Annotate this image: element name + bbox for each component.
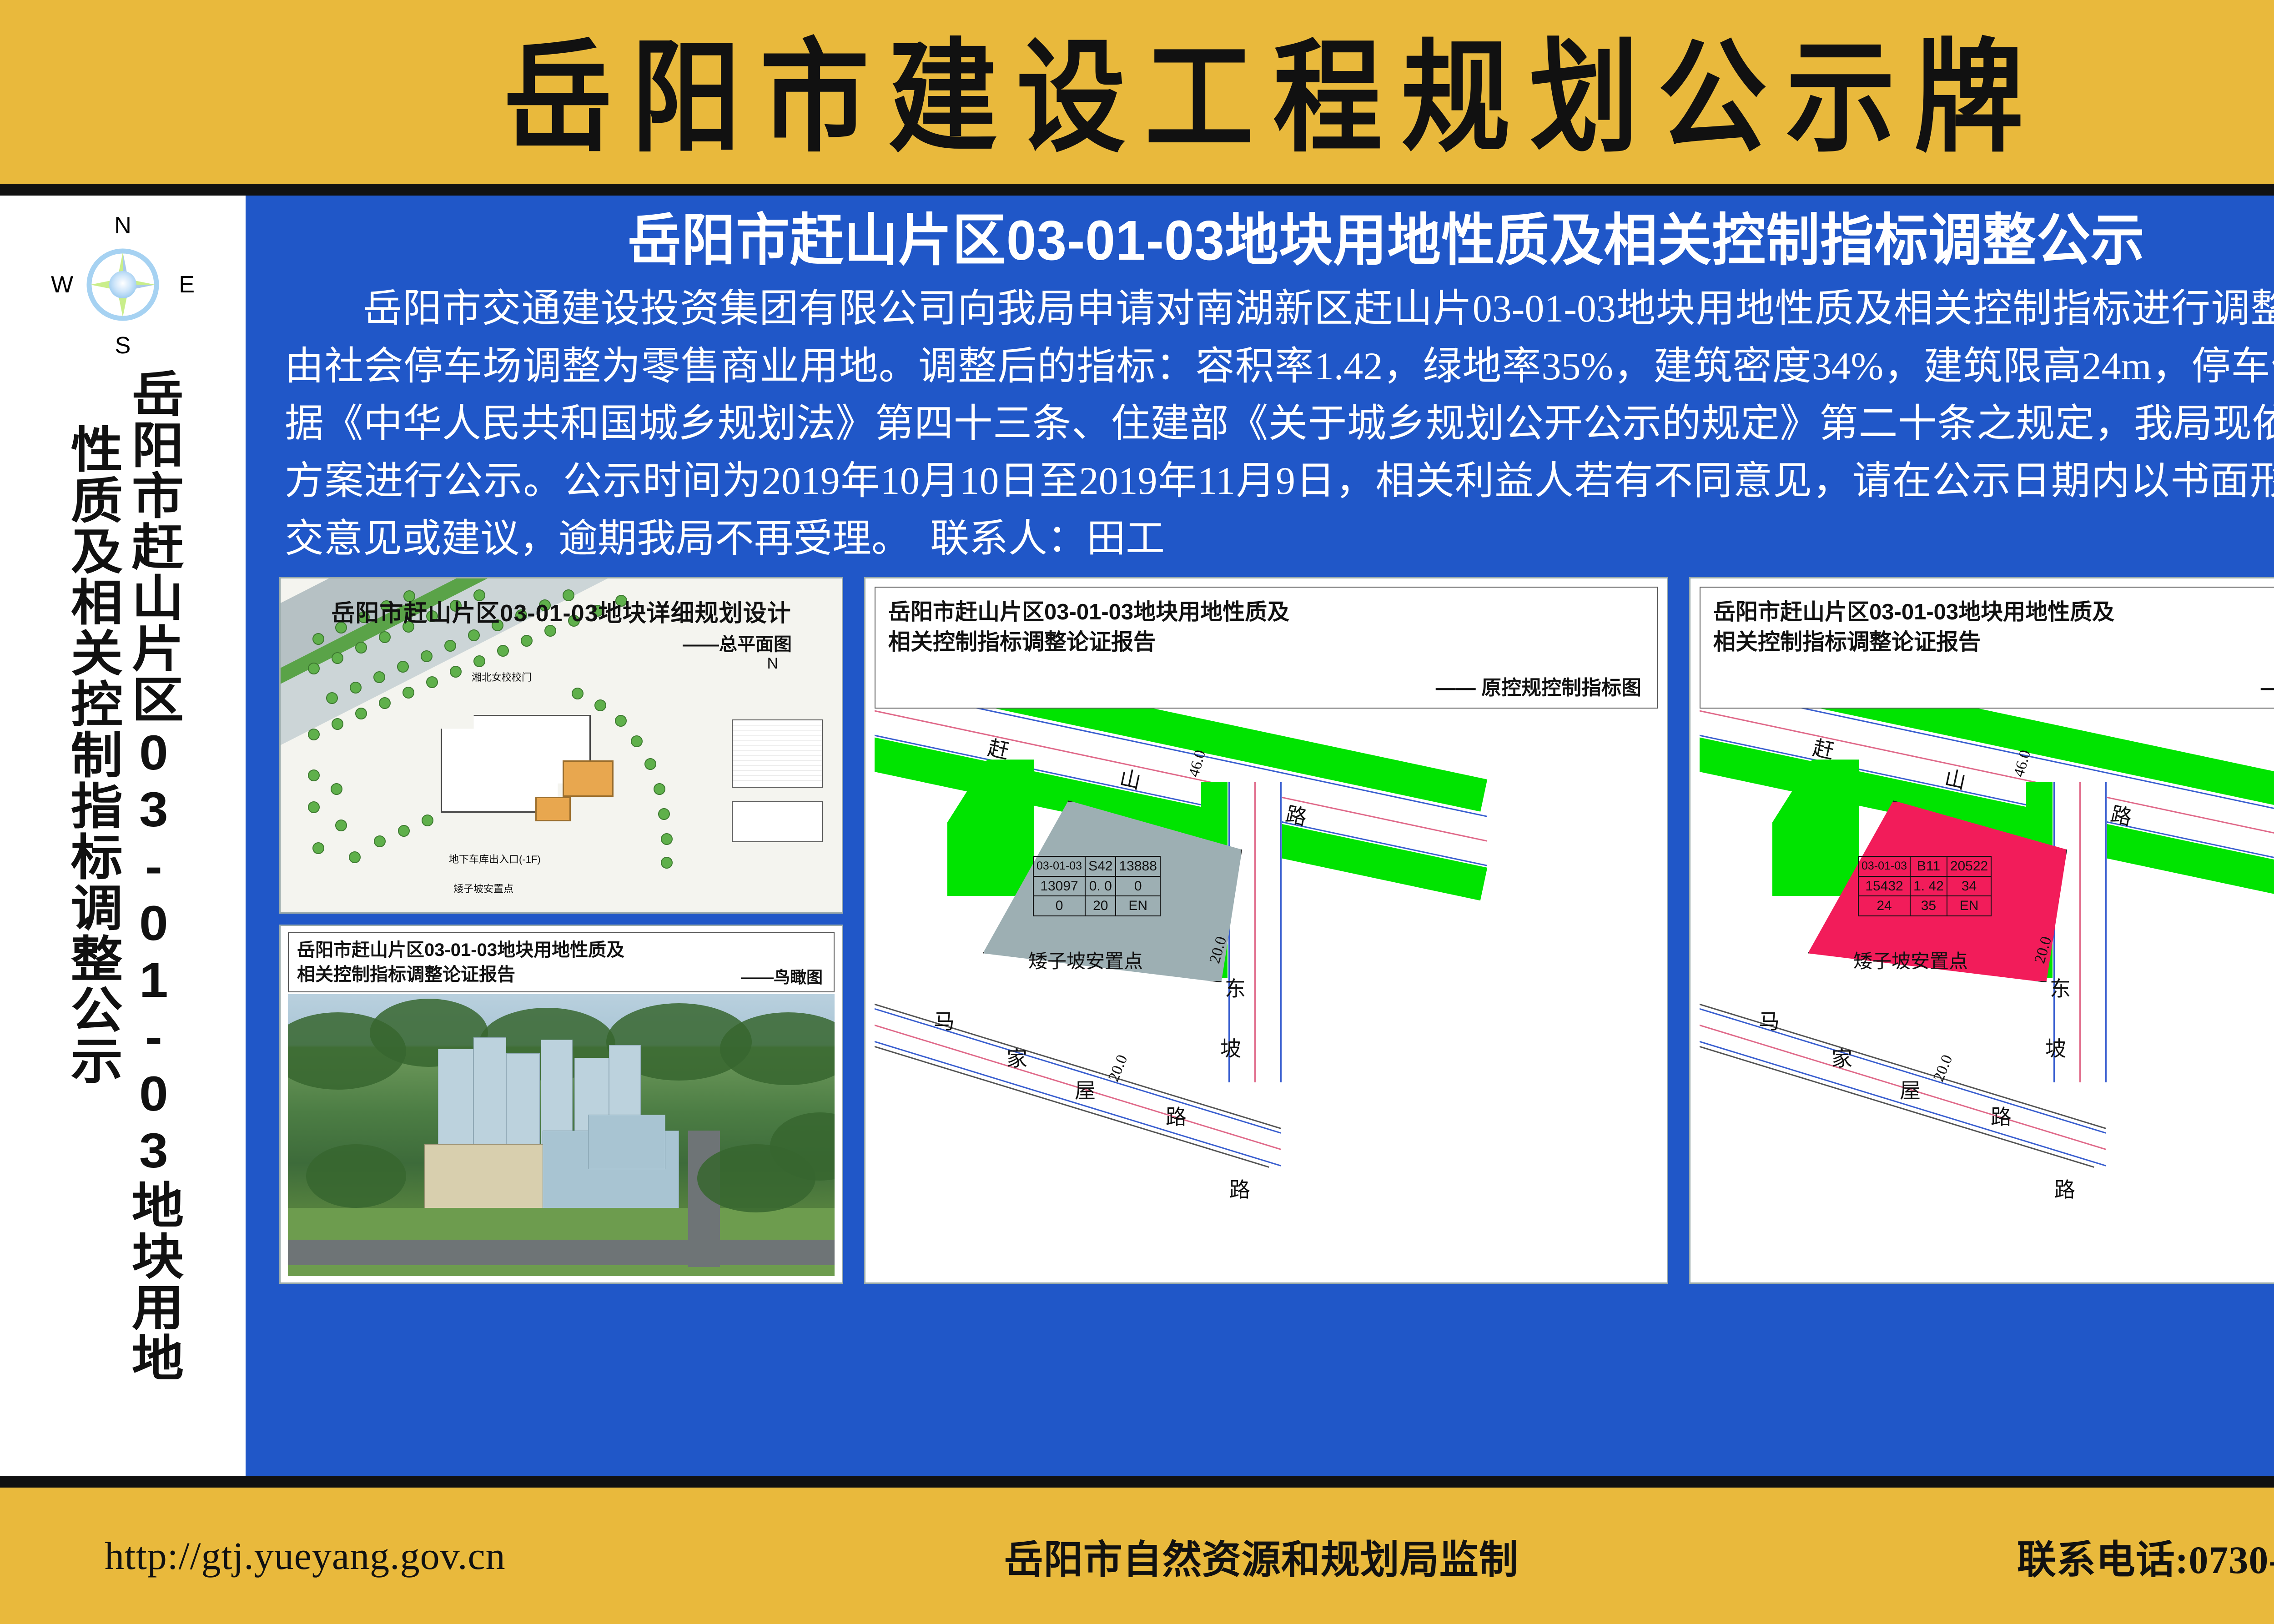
compass-west-label: W: [51, 273, 73, 297]
cell-green-ratio: 35: [1910, 896, 1947, 916]
adjusted-control-caption-box: 岳阳市赶山片区03-01-03地块用地性质及 相关控制指标调整论证报告 —— 调…: [1700, 587, 2274, 709]
footer-phone: 联系电话:0730-8197771: [2017, 1528, 2274, 1584]
site-plan-subtitle: ——总平面图: [683, 629, 792, 656]
cell-site-area: 13888: [1116, 856, 1160, 876]
figure-birdseye[interactable]: 岳阳市赶山片区03-01-03地块用地性质及 相关控制指标调整论证报告 ——鸟瞰…: [279, 925, 843, 1284]
map-label-road-east-2: 坡: [1220, 1032, 1241, 1062]
adjusted-control-subtitle: —— 调整后控制指标图: [2261, 671, 2274, 700]
site-plan-legend-secondary: [732, 801, 823, 842]
table-row: 0 20 EN: [1033, 896, 1160, 916]
map-label-road-east-1: 东: [2050, 972, 2071, 1002]
site-plan-annex-b: [535, 797, 571, 821]
birdseye-title-line1: 岳阳市赶山片区03-01-03地块用地性质及: [297, 938, 825, 962]
birdseye-render: [288, 994, 835, 1276]
birdseye-caption-box: 岳阳市赶山片区03-01-03地块用地性质及 相关控制指标调整论证报告 ——鸟瞰…: [288, 932, 835, 992]
notice-body: 岳阳市交通建设投资集团有限公司向我局申请对南湖新区赶山片03-01-03地块用地…: [273, 280, 2274, 567]
map-label-road-east-2: 坡: [2045, 1032, 2066, 1062]
site-plan-label-entry: 矮子坡安置点: [453, 881, 513, 895]
notice-paragraph: 岳阳市交通建设投资集团有限公司向我局申请对南湖新区赶山片03-01-03地块用地…: [285, 280, 2274, 567]
cell-entrance: EN: [1947, 896, 1991, 916]
compass-star-icon: [80, 241, 166, 328]
sidebar-vertical-title-right: 岳阳市赶山片区03-01-03地块用地: [126, 368, 181, 1383]
figures-column-left: N 湘北女校校门 地下车库出入口(-1F) 矮子坡安置点 岳阳市赶山片区03-0…: [279, 577, 843, 1284]
map-label-road-east-3: 路: [2054, 1173, 2075, 1203]
map-label-settlement: 矮子坡安置点: [1853, 946, 1968, 974]
parcel-index-table-original: 03-01-03 S42 13888 13097 0. 0 0: [1033, 856, 1161, 916]
sidebar-vertical-title: 岳阳市赶山片区03-01-03地块用地 性质及相关控制指标调整公示: [0, 368, 246, 1476]
table-row: 24 35 EN: [1858, 896, 1991, 916]
cell-parcel-id: 03-01-03: [1858, 856, 1910, 876]
cell-green-ratio: 20: [1085, 896, 1116, 916]
table-row: 03-01-03 S42 13888: [1033, 856, 1160, 876]
cell-land-use-code: B11: [1910, 856, 1947, 876]
table-row: 15432 1. 42 34: [1858, 876, 1991, 896]
site-plan-label-underground: 地下车库出入口(-1F): [449, 851, 541, 866]
board-middle: N S W E: [0, 196, 2274, 1488]
original-control-title-line1: 岳阳市赶山片区03-01-03地块用地性质及: [888, 598, 1644, 628]
site-plan-label-school-gate: 湘北女校校门: [472, 669, 532, 684]
cell-density: 34: [1947, 876, 1991, 896]
board-header: 岳阳市建设工程规划公示牌: [0, 0, 2274, 196]
compass-rose-icon: N S W E: [55, 216, 191, 353]
notice-panel: 岳阳市赶山片区03-01-03地块用地性质及相关控制指标调整公示 岳阳市交通建设…: [246, 196, 2274, 1476]
map-label-road-east-3: 路: [1229, 1173, 1250, 1203]
sidebar-vertical-title-left: 性质及相关控制指标调整公示: [65, 424, 119, 1086]
figures-row: N 湘北女校校门 地下车库出入口(-1F) 矮子坡安置点 岳阳市赶山片区03-0…: [273, 577, 2274, 1465]
map-label-road-ma-2: 家: [1006, 1042, 1027, 1072]
cell-plot-ratio: 1. 42: [1910, 876, 1947, 896]
footer-authority: 岳阳市自然资源和规划局监制: [1004, 1528, 1519, 1584]
figure-adjusted-control-map[interactable]: 03-01-03 B11 20522 15432 1. 42 34: [1689, 577, 2274, 1284]
original-control-title-line2: 相关控制指标调整论证报告: [888, 628, 1644, 658]
table-row: 03-01-03 B11 20522: [1858, 856, 1991, 876]
site-plan-annex-a: [563, 760, 614, 797]
adjusted-control-title-line2: 相关控制指标调整论证报告: [1713, 628, 2274, 658]
site-plan-canvas: N 湘北女校校门 地下车库出入口(-1F) 矮子坡安置点 岳阳市赶山片区03-0…: [281, 578, 842, 912]
cell-land-use-code: S42: [1085, 856, 1116, 876]
map-label-road-ma-3: 屋: [1075, 1074, 1096, 1104]
parcel-index-table-adjusted: 03-01-03 B11 20522 15432 1. 42 34: [1858, 856, 1992, 916]
map-label-road-ma-2: 家: [1831, 1042, 1852, 1072]
original-control-caption-box: 岳阳市赶山片区03-01-03地块用地性质及 相关控制指标调整论证报告 —— 原…: [875, 587, 1658, 709]
cell-density: 0: [1116, 876, 1160, 896]
adjusted-control-title-line1: 岳阳市赶山片区03-01-03地块用地性质及: [1713, 598, 2274, 628]
left-sidebar: N S W E: [0, 196, 246, 1476]
figures-column-middle: 03-01-03 S42 13888 13097 0. 0 0: [864, 577, 1668, 1284]
site-plan-north-mark: N: [767, 655, 778, 673]
figures-column-right: 03-01-03 B11 20522 15432 1. 42 34: [1689, 577, 2274, 1284]
cell-site-area: 20522: [1947, 856, 1991, 876]
cell-parcel-id: 03-01-03: [1033, 856, 1085, 876]
map-label-settlement: 矮子坡安置点: [1028, 946, 1143, 974]
board-title: 岳阳市建设工程规划公示牌: [484, 37, 2043, 159]
site-plan-legend: [732, 719, 823, 788]
birdseye-subtitle: ——鸟瞰图: [741, 964, 823, 988]
cell-height: 24: [1858, 896, 1910, 916]
public-notice-board: 岳阳市建设工程规划公示牌 N S W E: [0, 0, 2274, 1624]
compass-south-label: S: [115, 334, 131, 357]
board-footer: http://gtj.yueyang.gov.cn 岳阳市自然资源和规划局监制 …: [0, 1488, 2274, 1624]
original-control-subtitle: —— 原控规控制指标图: [1436, 671, 1641, 700]
map-label-road-ma-3: 屋: [1900, 1074, 1921, 1104]
header-divider: [0, 184, 2274, 196]
cell-build-area: 15432: [1858, 876, 1910, 896]
footer-website[interactable]: http://gtj.yueyang.gov.cn: [105, 1533, 506, 1579]
map-label-road-ma-4: 路: [1991, 1101, 2012, 1131]
figure-original-control-map[interactable]: 03-01-03 S42 13888 13097 0. 0 0: [864, 577, 1668, 1284]
figure-site-plan[interactable]: N 湘北女校校门 地下车库出入口(-1F) 矮子坡安置点 岳阳市赶山片区03-0…: [279, 577, 843, 914]
map-label-road-east-1: 东: [1225, 972, 1246, 1002]
compass-north-label: N: [114, 214, 131, 237]
table-row: 13097 0. 0 0: [1033, 876, 1160, 896]
map-label-road-ma-4: 路: [1166, 1101, 1187, 1131]
map-label-road-ma-1: 马: [934, 1005, 955, 1035]
cell-entrance: EN: [1116, 896, 1160, 916]
cell-height: 0: [1033, 896, 1085, 916]
cell-plot-ratio: 0. 0: [1085, 876, 1116, 896]
cell-build-area: 13097: [1033, 876, 1085, 896]
site-plan-title: 岳阳市赶山片区03-01-03地块详细规划设计: [281, 594, 842, 628]
notice-title: 岳阳市赶山片区03-01-03地块用地性质及相关控制指标调整公示: [273, 208, 2274, 274]
map-label-road-ma-1: 马: [1759, 1005, 1780, 1035]
compass-east-label: E: [179, 273, 195, 297]
